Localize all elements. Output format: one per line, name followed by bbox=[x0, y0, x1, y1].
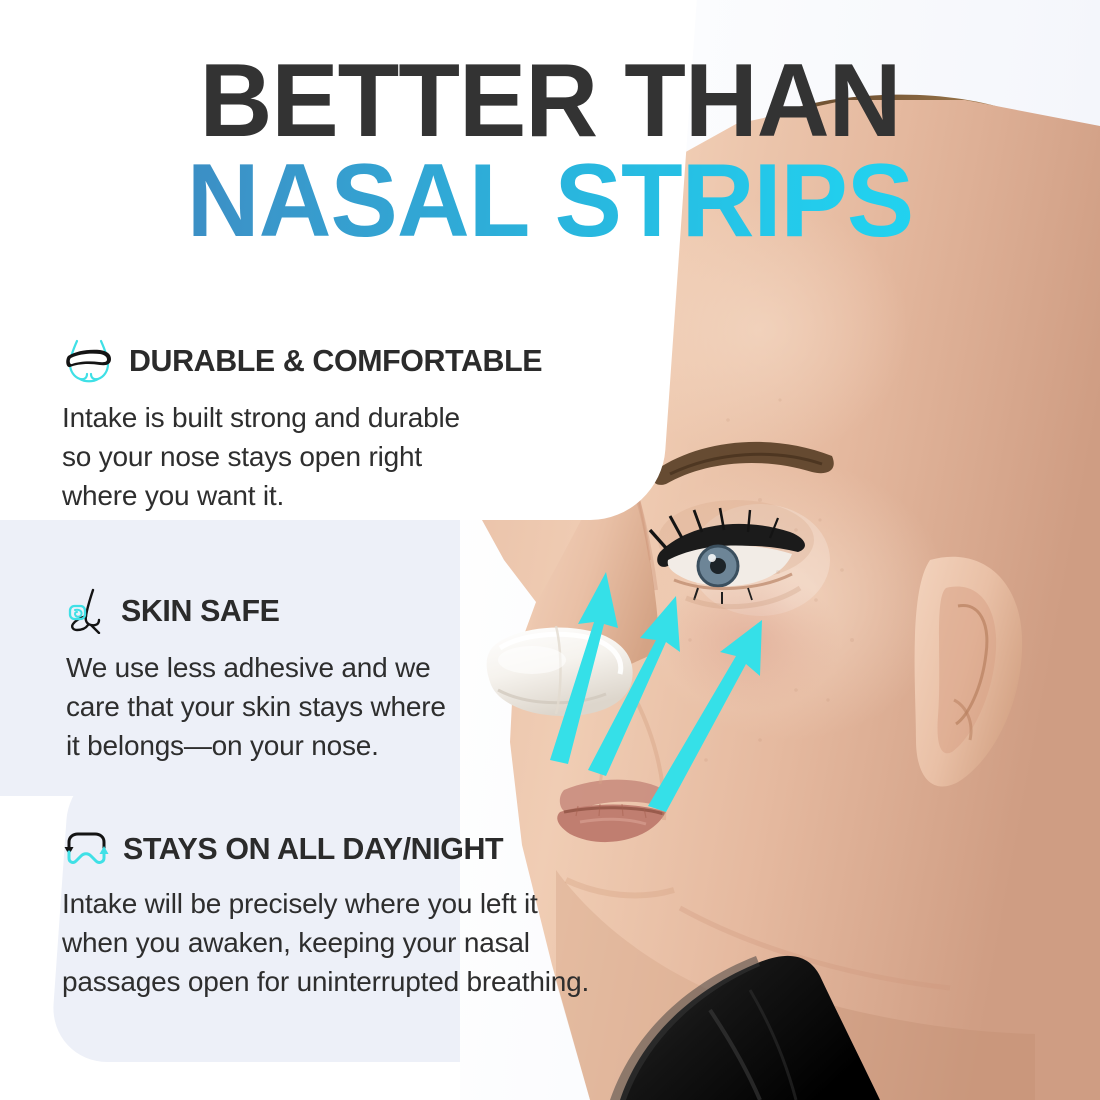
feature-title: STAYS ON ALL DAY/NIGHT bbox=[123, 831, 503, 867]
feature-block-durable-comfortable: DURABLE & COMFORTABLE Intake is built st… bbox=[62, 338, 642, 516]
feature-body-line: it belongs—on your nose. bbox=[66, 726, 566, 765]
feature-title: SKIN SAFE bbox=[121, 593, 280, 629]
nose-dilator-front-icon bbox=[62, 338, 116, 384]
feature-heading-row: STAYS ON ALL DAY/NIGHT bbox=[62, 828, 682, 870]
feature-heading-row: SKIN SAFE bbox=[66, 588, 566, 634]
feature-block-stays-on-all-day-night: STAYS ON ALL DAY/NIGHT Intake will be pr… bbox=[62, 828, 682, 1002]
feature-body-line: where you want it. bbox=[62, 476, 642, 515]
feature-body-line: so your nose stays open right bbox=[62, 437, 642, 476]
feature-body-line: Intake will be precisely where you left … bbox=[62, 884, 682, 923]
feature-body-line: Intake is built strong and durable bbox=[62, 398, 642, 437]
feature-body: Intake is built strong and durable so yo… bbox=[62, 398, 642, 516]
nose-profile-patch-icon bbox=[66, 588, 108, 634]
infographic-canvas: BETTER THAN NASAL STRIPS DURABLE & COMFO… bbox=[0, 0, 1100, 1100]
feature-heading-row: DURABLE & COMFORTABLE bbox=[62, 338, 642, 384]
feature-body-line: when you awaken, keeping your nasal bbox=[62, 923, 682, 962]
feature-body: We use less adhesive and we care that yo… bbox=[66, 648, 566, 766]
feature-body-line: We use less adhesive and we bbox=[66, 648, 566, 687]
feature-body-line: passages open for uninterrupted breathin… bbox=[62, 962, 682, 1001]
feature-title: DURABLE & COMFORTABLE bbox=[129, 343, 542, 379]
day-night-cycle-icon bbox=[62, 828, 110, 870]
feature-body: Intake will be precisely where you left … bbox=[62, 884, 682, 1002]
feature-body-line: care that your skin stays where bbox=[66, 687, 566, 726]
feature-block-skin-safe: SKIN SAFE We use less adhesive and we ca… bbox=[66, 588, 566, 766]
